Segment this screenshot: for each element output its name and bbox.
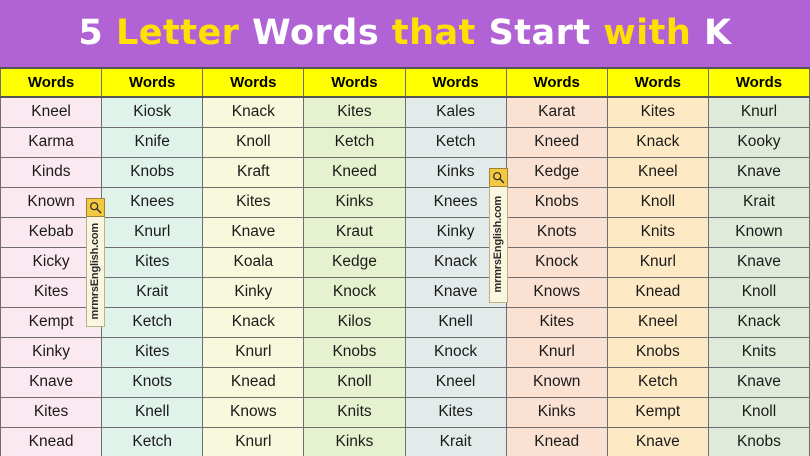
word-cell: Knave xyxy=(708,367,809,397)
word-cell: Knurl xyxy=(708,97,809,127)
word-cell: Ketch xyxy=(405,127,506,157)
word-cell: Kilos xyxy=(304,307,405,337)
word-cell: Kicky xyxy=(1,247,102,277)
column-header-1: Words xyxy=(102,68,203,97)
table-row: KneelKioskKnackKitesKalesKaratKitesKnurl xyxy=(1,97,810,127)
word-cell: Knobs xyxy=(102,157,203,187)
word-cell: Kinks xyxy=(304,187,405,217)
page-title: 5 Letter Words that Start with K xyxy=(78,16,731,51)
word-cell: Knees xyxy=(102,187,203,217)
word-cell: Kneel xyxy=(607,307,708,337)
word-cell: Kinky xyxy=(405,217,506,247)
word-cell: Kneed xyxy=(304,157,405,187)
column-header-7: Words xyxy=(708,68,809,97)
word-cell: Knits xyxy=(607,217,708,247)
word-cell: Ketch xyxy=(102,307,203,337)
word-cell: Kites xyxy=(304,97,405,127)
word-cell: Knell xyxy=(405,307,506,337)
word-cell: Kites xyxy=(506,307,607,337)
table-row: KinkyKitesKnurlKnobsKnockKnurlKnobsKnits xyxy=(1,337,810,367)
word-cell: Knobs xyxy=(708,427,809,456)
word-cell: Kinky xyxy=(203,277,304,307)
word-cell: Knots xyxy=(506,217,607,247)
word-cell: Knurl xyxy=(203,427,304,456)
word-cell: Kinds xyxy=(1,157,102,187)
word-cell: Knows xyxy=(203,397,304,427)
word-cell: Karma xyxy=(1,127,102,157)
word-cell: Knits xyxy=(708,337,809,367)
word-cell: Ketch xyxy=(607,367,708,397)
word-cell: Kales xyxy=(405,97,506,127)
word-cell: Knave xyxy=(708,247,809,277)
word-cell: Knobs xyxy=(506,187,607,217)
word-cell: Knits xyxy=(304,397,405,427)
word-cell: Knack xyxy=(607,127,708,157)
column-header-5: Words xyxy=(506,68,607,97)
word-cell: Knurl xyxy=(607,247,708,277)
table-header: WordsWordsWordsWordsWordsWordsWordsWords xyxy=(1,68,810,97)
column-header-2: Words xyxy=(203,68,304,97)
table-row: KarmaKnifeKnollKetchKetchKneedKnackKooky xyxy=(1,127,810,157)
word-cell: Knave xyxy=(203,217,304,247)
word-cell: Kites xyxy=(203,187,304,217)
word-cell: Kinks xyxy=(304,427,405,456)
word-cell: Knoll xyxy=(607,187,708,217)
word-cell: Knock xyxy=(304,277,405,307)
page-root: 5 Letter Words that Start with K WordsWo… xyxy=(0,0,810,456)
word-cell: Kedge xyxy=(506,157,607,187)
word-cell: Karat xyxy=(506,97,607,127)
word-cell: Kebab xyxy=(1,217,102,247)
word-cell: Knave xyxy=(708,157,809,187)
table-row: KindsKnobsKraftKneedKinksKedgeKneelKnave xyxy=(1,157,810,187)
word-cell: Knell xyxy=(102,397,203,427)
word-cell: Knock xyxy=(506,247,607,277)
table-row: KebabKnurlKnaveKrautKinkyKnotsKnitsKnown xyxy=(1,217,810,247)
word-cell: Knead xyxy=(203,367,304,397)
table-row: KemptKetchKnackKilosKnellKitesKneelKnack xyxy=(1,307,810,337)
word-cell: Kinks xyxy=(506,397,607,427)
word-cell: Knack xyxy=(203,97,304,127)
word-cell: Knobs xyxy=(607,337,708,367)
word-cell: Knobs xyxy=(304,337,405,367)
word-cell: Knoll xyxy=(203,127,304,157)
word-cell: Kites xyxy=(405,397,506,427)
word-cell: Kedge xyxy=(304,247,405,277)
word-cell: Kinks xyxy=(405,157,506,187)
title-banner: 5 Letter Words that Start with K xyxy=(0,0,810,67)
column-header-0: Words xyxy=(1,68,102,97)
word-cell: Kites xyxy=(102,247,203,277)
column-header-4: Words xyxy=(405,68,506,97)
word-cell: Krait xyxy=(708,187,809,217)
table-row: KitesKraitKinkyKnockKnaveKnowsKneadKnoll xyxy=(1,277,810,307)
word-cell: Knack xyxy=(708,307,809,337)
word-cell: Ketch xyxy=(102,427,203,456)
word-cell: Knoll xyxy=(708,277,809,307)
word-cell: Knoll xyxy=(304,367,405,397)
word-cell: Knack xyxy=(203,307,304,337)
word-cell: Kinky xyxy=(1,337,102,367)
word-cell: Kneel xyxy=(405,367,506,397)
words-table: WordsWordsWordsWordsWordsWordsWordsWords… xyxy=(0,67,810,456)
word-cell: Knife xyxy=(102,127,203,157)
word-cell: Krait xyxy=(405,427,506,456)
word-cell: Ketch xyxy=(304,127,405,157)
word-cell: Known xyxy=(506,367,607,397)
word-cell: Kites xyxy=(607,97,708,127)
word-cell: Knead xyxy=(607,277,708,307)
word-cell: Krait xyxy=(102,277,203,307)
word-cell: Kneel xyxy=(1,97,102,127)
word-cell: Kites xyxy=(1,397,102,427)
word-cell: Kiosk xyxy=(102,97,203,127)
word-cell: Knead xyxy=(1,427,102,456)
word-cell: Knave xyxy=(1,367,102,397)
title-segment-3: that xyxy=(392,13,489,53)
word-cell: Koala xyxy=(203,247,304,277)
word-cell: Knows xyxy=(506,277,607,307)
word-cell: Knees xyxy=(405,187,506,217)
word-cell: Kraft xyxy=(203,157,304,187)
word-cell: Knurl xyxy=(506,337,607,367)
title-segment-0: 5 xyxy=(78,13,116,53)
word-cell: Knurl xyxy=(102,217,203,247)
table-row: KnownKneesKitesKinksKneesKnobsKnollKrait xyxy=(1,187,810,217)
table-body: KneelKioskKnackKitesKalesKaratKitesKnurl… xyxy=(1,97,810,456)
word-cell: Knurl xyxy=(203,337,304,367)
word-cell: Knots xyxy=(102,367,203,397)
table-row: KitesKnellKnowsKnitsKitesKinksKemptKnoll xyxy=(1,397,810,427)
word-cell: Kites xyxy=(1,277,102,307)
word-cell: Kneel xyxy=(607,157,708,187)
table-row: KickyKitesKoalaKedgeKnackKnockKnurlKnave xyxy=(1,247,810,277)
title-segment-5: with xyxy=(603,13,704,53)
word-cell: Kraut xyxy=(304,217,405,247)
word-cell: Knead xyxy=(506,427,607,456)
table-row: KnaveKnotsKneadKnollKneelKnownKetchKnave xyxy=(1,367,810,397)
word-cell: Kites xyxy=(102,337,203,367)
word-cell: Kempt xyxy=(1,307,102,337)
table-row: KneadKetchKnurlKinksKraitKneadKnaveKnobs xyxy=(1,427,810,456)
word-cell: Knack xyxy=(405,247,506,277)
column-header-6: Words xyxy=(607,68,708,97)
word-cell: Known xyxy=(1,187,102,217)
title-segment-1: Letter xyxy=(116,13,252,53)
word-cell: Kooky xyxy=(708,127,809,157)
title-segment-2: Words xyxy=(252,13,392,53)
word-cell: Kneed xyxy=(506,127,607,157)
word-cell: Known xyxy=(708,217,809,247)
word-cell: Kempt xyxy=(607,397,708,427)
header-row: WordsWordsWordsWordsWordsWordsWordsWords xyxy=(1,68,810,97)
title-segment-4: Start xyxy=(489,13,604,53)
word-cell: Knock xyxy=(405,337,506,367)
word-cell: Knave xyxy=(405,277,506,307)
word-cell: Knoll xyxy=(708,397,809,427)
column-header-3: Words xyxy=(304,68,405,97)
title-segment-6: K xyxy=(704,13,732,53)
word-cell: Knave xyxy=(607,427,708,456)
